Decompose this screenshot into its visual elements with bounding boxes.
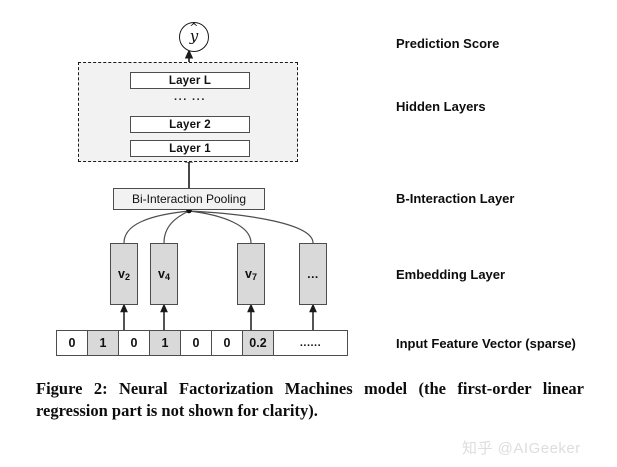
input-cell: 1 bbox=[88, 331, 119, 355]
watermark: 知乎 @AIGeeker bbox=[462, 437, 581, 458]
label-embedding-layer: Embedding Layer bbox=[396, 267, 505, 282]
embedding-box-ellipsis: ... bbox=[299, 243, 327, 305]
prediction-score-node: ^ y bbox=[179, 22, 209, 52]
input-cell: 1 bbox=[150, 331, 181, 355]
label-input-feature-vector: Input Feature Vector (sparse) bbox=[396, 336, 576, 351]
label-prediction-score: Prediction Score bbox=[396, 36, 499, 51]
input-cell-tail: ...... bbox=[274, 331, 347, 355]
hidden-layers-ellipsis: ··· ··· bbox=[165, 96, 215, 104]
embedding-label-v7: v7 bbox=[245, 267, 257, 281]
embedding-label-ellipsis: ... bbox=[307, 267, 319, 281]
label-b-interaction-layer: B-Interaction Layer bbox=[396, 191, 514, 206]
bi-interaction-pooling-box: Bi-Interaction Pooling bbox=[113, 188, 265, 210]
y-hat-glyph: ^ y bbox=[190, 29, 198, 44]
embedding-box-v4: v4 bbox=[150, 243, 178, 305]
embedding-label-v4: v4 bbox=[158, 267, 170, 281]
input-cell: 0 bbox=[119, 331, 150, 355]
hidden-layer-L-label: Layer L bbox=[169, 75, 211, 87]
hidden-layer-2-box: Layer 2 bbox=[130, 116, 250, 133]
figure-caption: Figure 2: Neural Factorization Machines … bbox=[36, 378, 584, 423]
embedding-box-v7: v7 bbox=[237, 243, 265, 305]
hat-accent: ^ bbox=[189, 22, 198, 33]
input-feature-vector: 0 1 0 1 0 0 0.2 ...... bbox=[56, 330, 348, 356]
nfm-figure: ^ y Layer L ··· ··· Layer 2 Layer 1 Bi-I… bbox=[0, 0, 617, 467]
hidden-layer-1-label: Layer 1 bbox=[169, 143, 211, 155]
hidden-layer-2-label: Layer 2 bbox=[169, 119, 211, 131]
embedding-box-v2: v2 bbox=[110, 243, 138, 305]
input-cell: 0 bbox=[181, 331, 212, 355]
input-cell: 0 bbox=[212, 331, 243, 355]
embedding-label-v2: v2 bbox=[118, 267, 130, 281]
input-cell: 0 bbox=[57, 331, 88, 355]
label-hidden-layers: Hidden Layers bbox=[396, 99, 486, 114]
hidden-layer-L-box: Layer L bbox=[130, 72, 250, 89]
bi-interaction-pooling-label: Bi-Interaction Pooling bbox=[132, 192, 246, 206]
hidden-layer-1-box: Layer 1 bbox=[130, 140, 250, 157]
input-cell: 0.2 bbox=[243, 331, 274, 355]
